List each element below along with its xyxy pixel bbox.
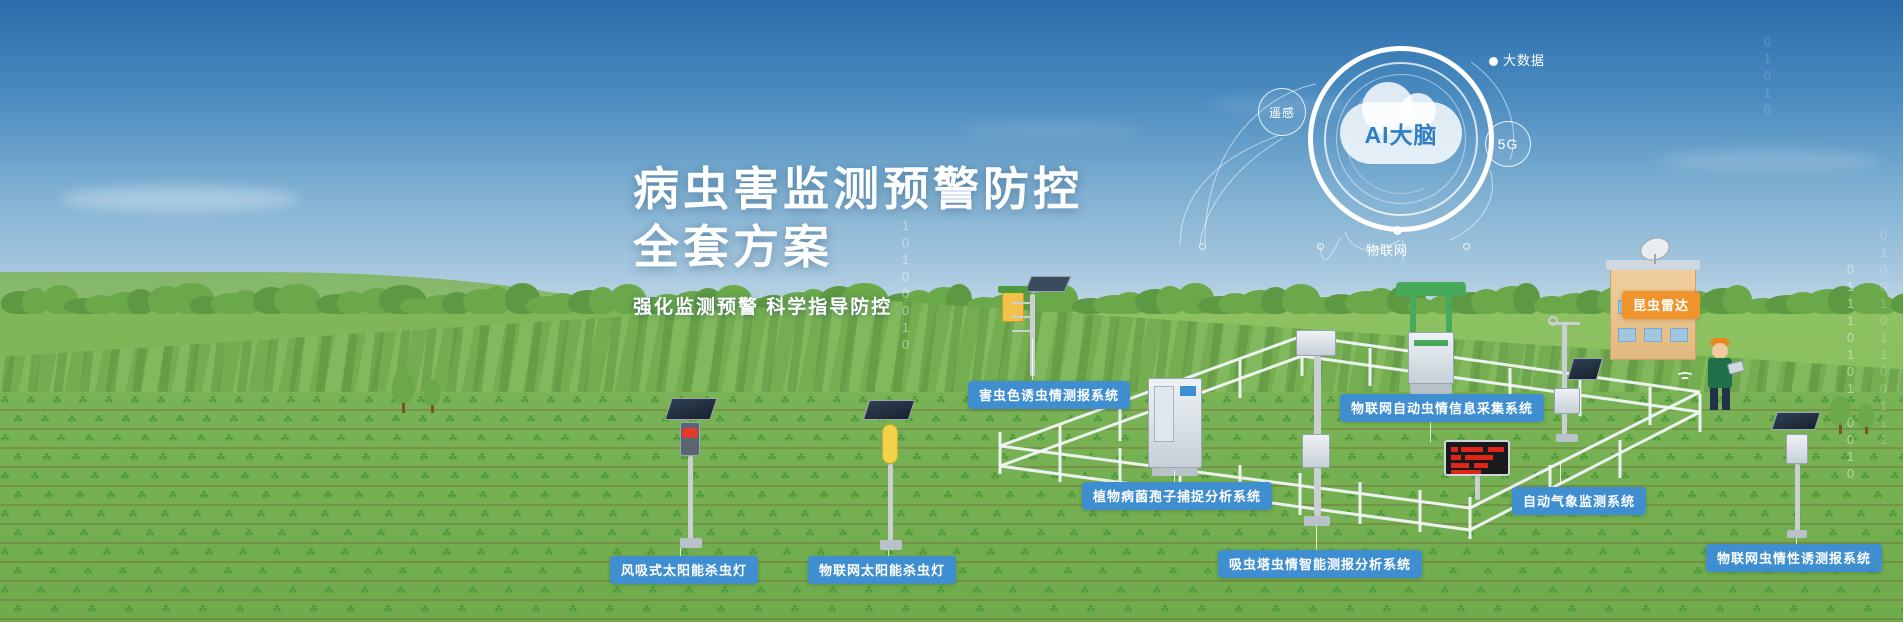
brain-node-dot-iot [1393,226,1402,235]
equipment-wind-solar-lamp [660,398,720,548]
callout-iot-pheromone[interactable]: 物联网虫情性诱测报系统 [1706,544,1882,572]
brain-node-label-big-data: 大数据 [1503,50,1545,69]
cloud-shape [960,120,1140,140]
brain-endpoint-dot [1317,243,1324,250]
binary-stream: 0100101100111 [1876,228,1891,449]
callout-wind-solar-lamp[interactable]: 风吸式太阳能杀虫灯 [610,556,758,584]
brain-endpoint-dot [1199,243,1206,250]
equipment-pheromone-trap [1770,412,1826,542]
callout-leader-line [1174,470,1175,482]
farmer-figure [1700,338,1744,412]
callout-color-trap[interactable]: 害虫色诱虫情测报系统 [968,381,1130,409]
equipment-spore-capture [1148,378,1202,482]
hero-title-line-2: 全套方案 [633,218,1083,276]
callout-leader-line [680,548,681,556]
hero-banner: ☘☘☘☘☘☘☘☘☘☘☘☘☘☘☘☘☘☘☘☘☘☘☘☘☘☘☘☘☘☘☘☘☘☘☘☘☘☘☘☘… [0,0,1903,622]
callout-leader-line [1032,338,1033,380]
callout-leader-line [1560,462,1561,484]
callout-insect-radar[interactable]: 昆虫雷达 [1622,291,1700,319]
callout-suction-tower[interactable]: 吸虫塔虫情智能测报分析系统 [1218,550,1422,578]
callout-iot-solar-lamp[interactable]: 物联网太阳能杀虫灯 [808,556,956,584]
callout-leader-line [1316,526,1317,550]
callout-leader-line [1430,420,1431,442]
cloud-shape [1660,150,1880,172]
callout-auto-weather[interactable]: 自动气象监测系统 [1512,487,1646,515]
equipment-weather-station [1528,322,1598,462]
callout-iot-insect-collect[interactable]: 物联网自动虫情信息采集系统 [1340,394,1544,422]
brain-node-5g[interactable]: 5G [1485,121,1531,167]
brain-endpoint-dot [1463,243,1470,250]
brain-node-label: 5G [1498,136,1519,152]
binary-stream: 01010 [1760,34,1775,119]
brain-node-label: 遥感 [1269,104,1295,121]
ai-brain-label: AI大脑 [1340,116,1462,150]
cloud-shape [60,186,300,212]
brain-node-remote-sensing[interactable]: 遥感 [1258,88,1306,136]
wifi-icon [1680,377,1690,382]
brain-node-label-iot: 物联网 [1366,240,1408,259]
equipment-led-display [1444,440,1514,500]
equipment-suction-tower [1288,330,1344,542]
brain-node-dot-big-data [1489,57,1498,66]
equipment-iot-solar-lamp [860,400,920,550]
callout-spore-capture[interactable]: 植物病菌孢子捕捉分析系统 [1082,482,1272,510]
ai-brain-graphic: AI大脑 [1308,46,1494,232]
equipment-color-trap [1000,272,1080,382]
hero-title-line-1: 病虫害监测预警防控 [633,160,1083,218]
binary-stream: 01110101 0010 [1843,262,1858,483]
